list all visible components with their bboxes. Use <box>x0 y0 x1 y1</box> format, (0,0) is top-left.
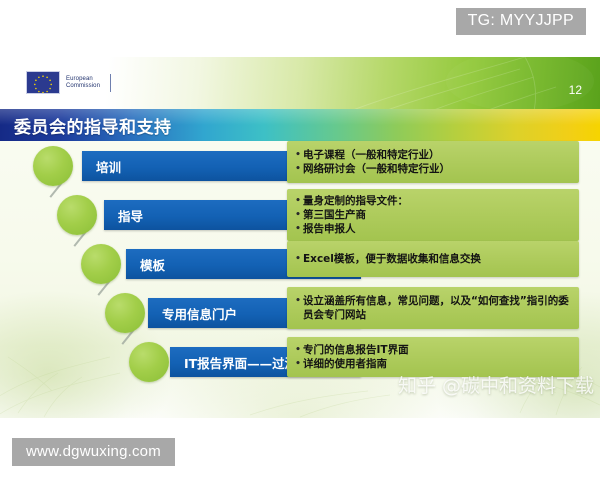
detail-box: •量身定制的指导文件：•第三国生产商•报告申报人 <box>287 189 579 241</box>
detail-bullet: •量身定制的指导文件： <box>293 194 571 208</box>
detail-bullet: •Excel模板，便于数据收集和信息交换 <box>293 252 571 266</box>
detail-bullet: •详细的使用者指南 <box>293 357 571 371</box>
bullet-dot-icon: • <box>293 222 303 236</box>
detail-bullet-text: 第三国生产商 <box>303 208 571 222</box>
stage-node-circle[interactable] <box>57 195 97 235</box>
detail-box: •电子课程（一般和特定行业）•网络研讨会（一般和特定行业） <box>287 141 579 183</box>
detail-bullet: •设立涵盖所有信息，常见问题，以及“如何查找”指引的委员会专门网站 <box>293 294 571 322</box>
slide-header-band: European Commission 12 <box>0 57 600 109</box>
detail-bullet-text: 详细的使用者指南 <box>303 357 571 371</box>
detail-box: •专门的信息报告IT界面•详细的使用者指南 <box>287 337 579 377</box>
bullet-dot-icon: • <box>293 357 303 371</box>
detail-bullet: •专门的信息报告IT界面 <box>293 343 571 357</box>
detail-box: •设立涵盖所有信息，常见问题，以及“如何查找”指引的委员会专门网站 <box>287 287 579 329</box>
stage-label-text: 专用信息门户 <box>148 304 237 323</box>
telegram-watermark: TG: MYYJJPP <box>456 8 586 35</box>
detail-bullet-text: 网络研讨会（一般和特定行业） <box>303 162 571 176</box>
detail-bullet-text: 电子课程（一般和特定行业） <box>303 148 571 162</box>
page-title: 委员会的指导和支持 <box>0 113 172 138</box>
detail-bullet-text: 专门的信息报告IT界面 <box>303 343 571 357</box>
eu-flag-icon <box>26 71 60 94</box>
stage-label-text: 模板 <box>126 255 165 274</box>
detail-bullet: •报告申报人 <box>293 222 571 236</box>
european-commission-logo: European Commission <box>26 71 111 94</box>
content-rows: 培训•电子课程（一般和特定行业）•网络研讨会（一般和特定行业）指导•量身定制的指… <box>0 141 600 418</box>
stage-label-text: 指导 <box>104 206 143 225</box>
stage-node-circle[interactable] <box>105 293 145 333</box>
stage-label-text: 培训 <box>82 157 121 176</box>
detail-bullet-text: 报告申报人 <box>303 222 571 236</box>
bullet-dot-icon: • <box>293 343 303 357</box>
detail-bullet: •网络研讨会（一般和特定行业） <box>293 162 571 176</box>
eu-stars-icon <box>27 72 59 93</box>
detail-bullet: •电子课程（一般和特定行业） <box>293 148 571 162</box>
bullet-dot-icon: • <box>293 208 303 222</box>
stage-node-circle[interactable] <box>33 146 73 186</box>
bullet-dot-icon: • <box>293 294 303 308</box>
bullet-dot-icon: • <box>293 194 303 208</box>
bullet-dot-icon: • <box>293 252 303 266</box>
logo-label: European Commission <box>66 76 100 90</box>
detail-bullet-text: Excel模板，便于数据收集和信息交换 <box>303 252 571 266</box>
detail-box: •Excel模板，便于数据收集和信息交换 <box>287 241 579 277</box>
url-watermark: www.dgwuxing.com <box>12 438 175 466</box>
page-number: 12 <box>569 83 582 97</box>
detail-bullet-text: 设立涵盖所有信息，常见问题，以及“如何查找”指引的委员会专门网站 <box>303 294 571 322</box>
stage-node-circle[interactable] <box>129 342 169 382</box>
slide-title-band: 委员会的指导和支持 <box>0 109 600 141</box>
detail-bullet: •第三国生产商 <box>293 208 571 222</box>
stage-node-circle[interactable] <box>81 244 121 284</box>
header-leaf-icon <box>320 57 600 109</box>
bullet-dot-icon: • <box>293 162 303 176</box>
bullet-dot-icon: • <box>293 148 303 162</box>
logo-divider <box>110 74 111 92</box>
presentation-slide: European Commission 12 委员会的指导和支持 培训•电子课程… <box>0 57 600 418</box>
detail-bullet-text: 量身定制的指导文件： <box>303 194 571 208</box>
